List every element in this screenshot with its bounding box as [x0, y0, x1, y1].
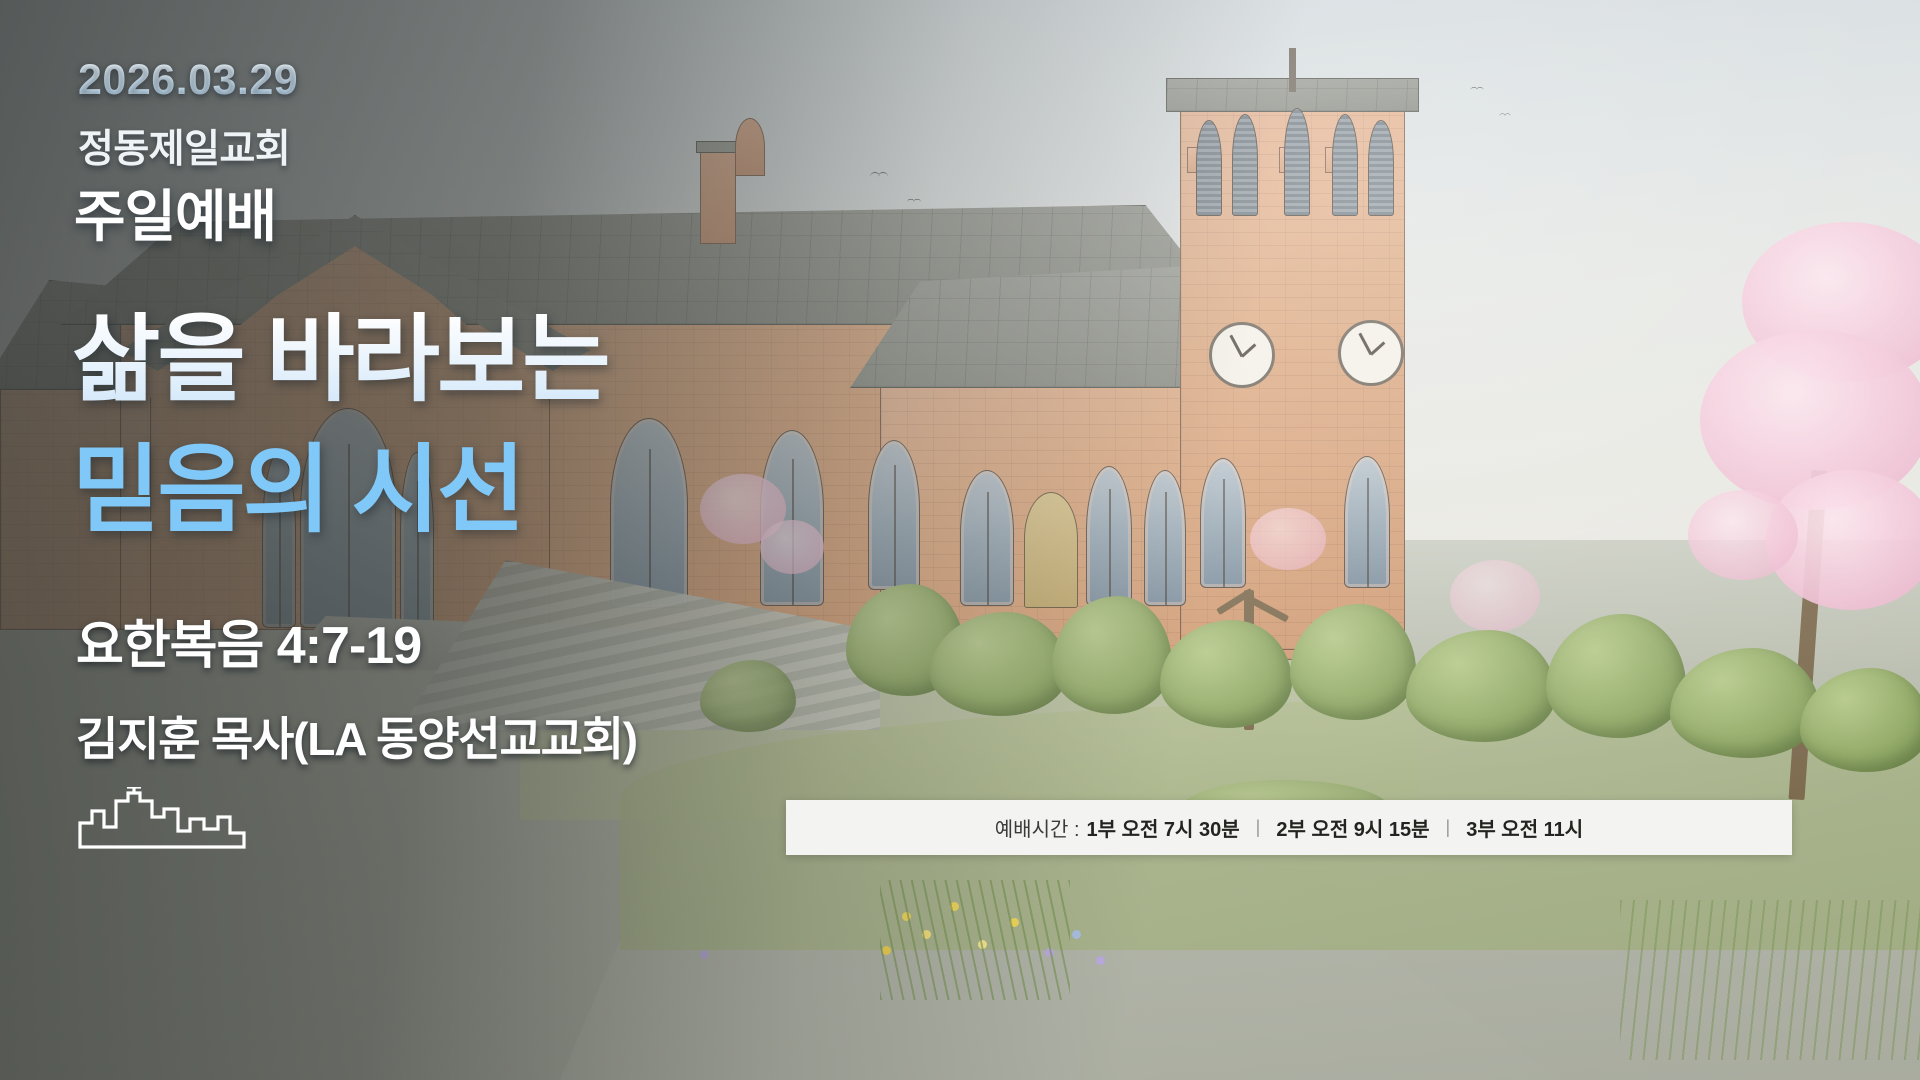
- sermon-title-line-2: 믿음의 시선: [72, 443, 522, 539]
- church-skyline-icon: [78, 787, 258, 849]
- tower-clock-right: [1338, 320, 1404, 386]
- church-entrance-door: [1024, 492, 1078, 608]
- slide-canvas: 2026.03.29 정동제일교회 주일예배 삶을 바라보는 믿음의 시선 요한…: [0, 0, 1920, 1080]
- service-time-3: 3부 오전 11시: [1466, 813, 1583, 842]
- sermon-title-line-1: 삶을 바라보는: [72, 312, 608, 408]
- bird-icon: [1470, 87, 1484, 93]
- nave-window: [610, 418, 688, 608]
- tower-louvre: [1196, 120, 1222, 216]
- service-time-1: 1부 오전 7시 30분: [1087, 813, 1240, 842]
- tower-finial: [1289, 48, 1296, 92]
- service-times-separator: |: [1430, 817, 1467, 838]
- church-name: 정동제일교회: [78, 118, 290, 174]
- service-date: 2026.03.29: [78, 56, 298, 105]
- service-label: 주일예배: [74, 172, 276, 253]
- service-times-row: 예배시간 : 1부 오전 7시 30분 | 2부 오전 9시 15분 | 3부 …: [995, 813, 1583, 842]
- blossom-branch: [760, 520, 824, 574]
- blossom-branch: [1250, 508, 1326, 570]
- tower-window: [1344, 456, 1390, 588]
- grass-tuft: [1620, 900, 1920, 1060]
- nave-window: [868, 440, 920, 590]
- tower-louvre: [1332, 114, 1358, 216]
- preacher-name: 김지훈 목사(LA 동양선교교회): [76, 703, 637, 769]
- tower-window: [1200, 458, 1246, 588]
- transept-window: [1144, 470, 1186, 606]
- bird-icon: [907, 199, 921, 205]
- service-times-bar: 예배시간 : 1부 오전 7시 30분 | 2부 오전 9시 15분 | 3부 …: [786, 800, 1792, 855]
- service-times-label: 예배시간 :: [995, 813, 1080, 842]
- flower-icon: [1072, 930, 1081, 939]
- blossom-branch: [1450, 560, 1540, 632]
- service-time-2: 2부 오전 9시 15분: [1276, 813, 1429, 842]
- grass-tuft: [880, 880, 1070, 1000]
- tower-clock-left: [1209, 322, 1275, 388]
- tower-louvre: [1368, 120, 1394, 216]
- cherry-blossom-canopy: [1688, 490, 1798, 580]
- tower-louvre: [1232, 114, 1258, 216]
- transept-window: [960, 470, 1014, 606]
- transept-window: [1086, 466, 1132, 606]
- chimney: [700, 152, 736, 244]
- flower-icon: [700, 950, 709, 959]
- service-times-separator: |: [1240, 817, 1277, 838]
- scripture-reference: 요한복음 4:7-19: [76, 603, 421, 678]
- tower-louvre: [1284, 108, 1310, 216]
- flower-icon: [1096, 956, 1105, 965]
- bird-icon: [870, 172, 888, 180]
- chimney-vent: [735, 118, 765, 176]
- bird-icon: [1499, 113, 1511, 118]
